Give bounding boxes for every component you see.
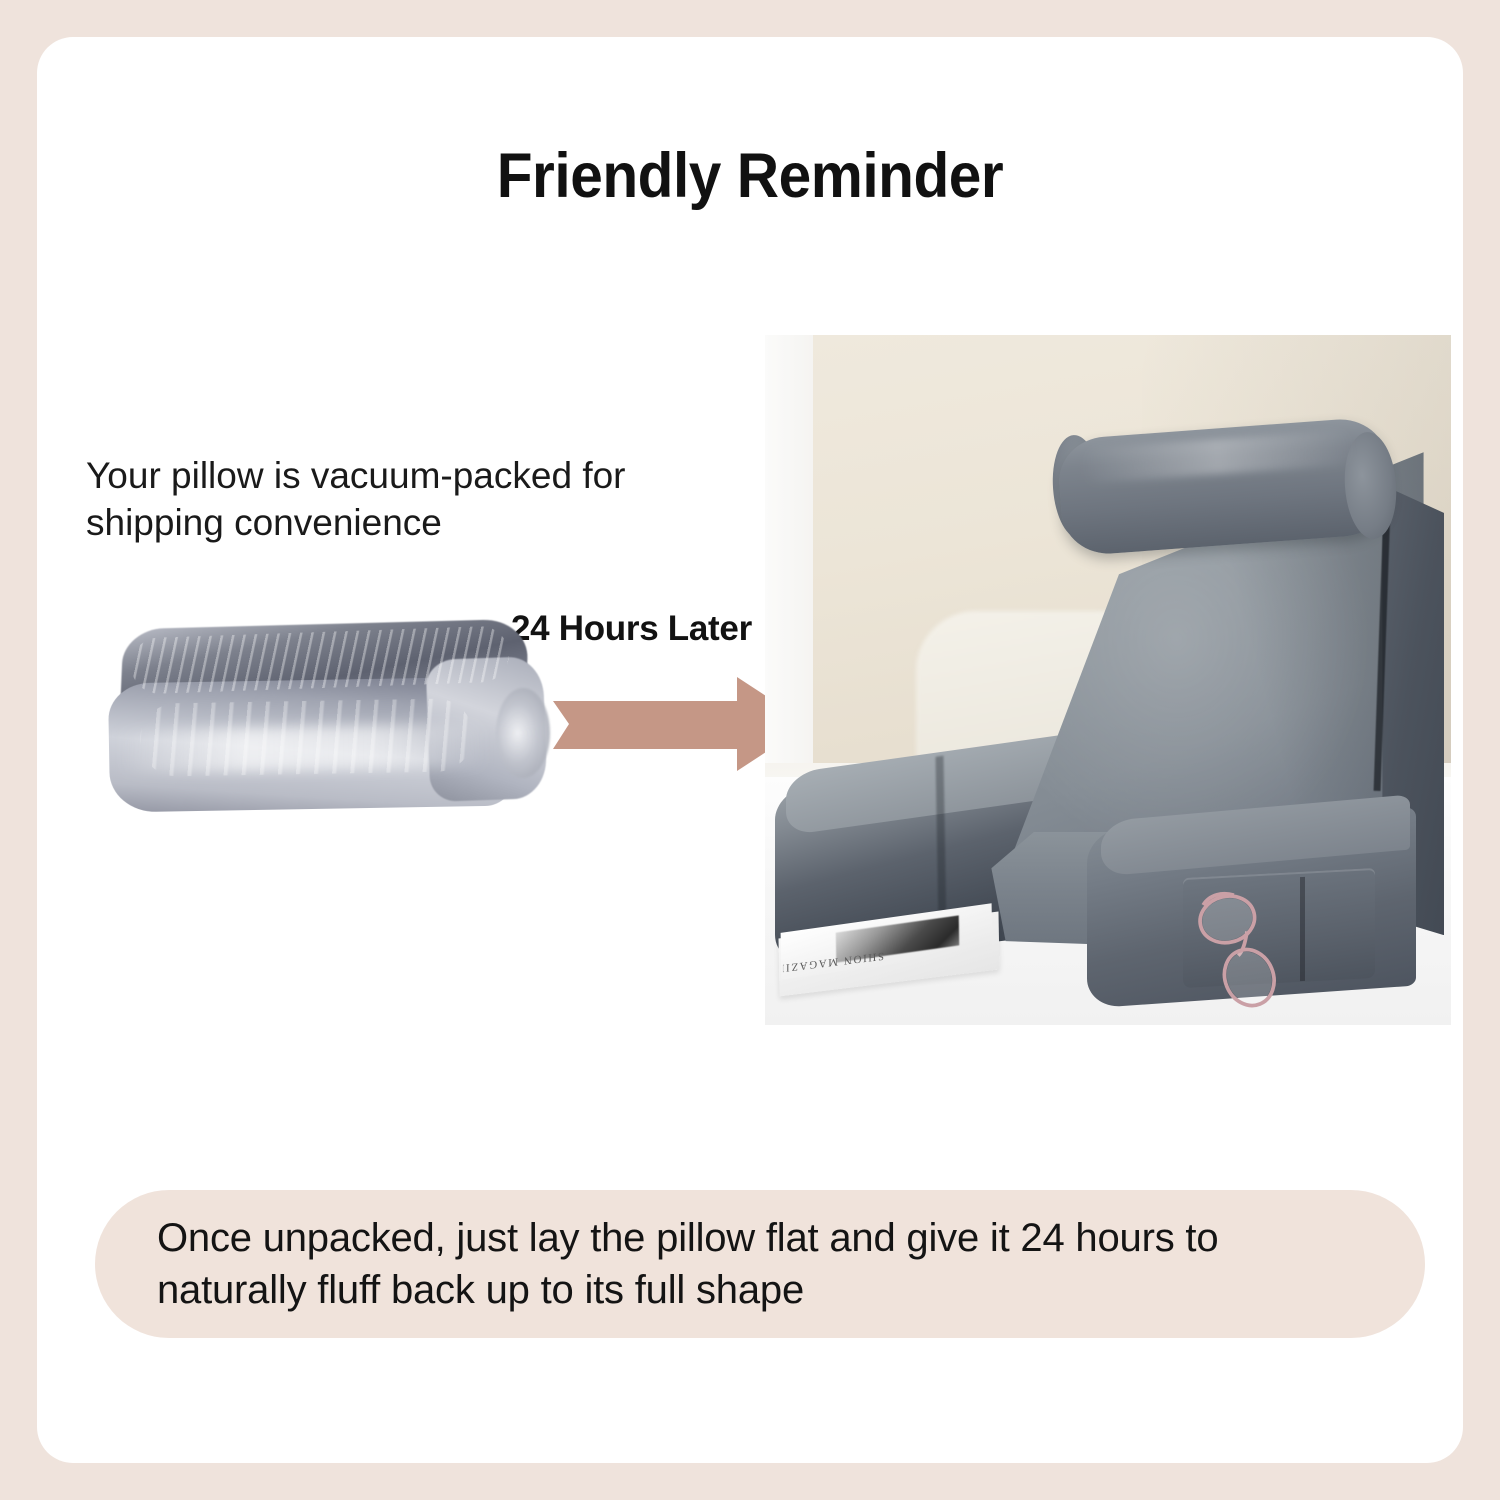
footer-caption-pill: Once unpacked, just lay the pillow flat … <box>95 1190 1425 1338</box>
before-caption: Your pillow is vacuum-packed for shippin… <box>86 452 686 547</box>
armrest-pocket-divider <box>1300 876 1305 980</box>
transition-label: 24 Hours Later <box>511 609 752 649</box>
wall-left-panel <box>765 335 820 832</box>
footer-caption-text: Once unpacked, just lay the pillow flat … <box>95 1212 1425 1316</box>
plastic-wrap-twist <box>496 688 550 778</box>
pillow-highlight <box>117 724 487 773</box>
packed-pillow-body <box>95 615 545 830</box>
eyeglasses-icon <box>1190 880 1300 1018</box>
magazine: FASHION MAGAZINE <box>779 915 999 991</box>
packed-pillow-image <box>95 615 545 830</box>
infographic-root: Friendly Reminder Your pillow is vacuum-… <box>0 0 1500 1500</box>
content-card: Friendly Reminder Your pillow is vacuum-… <box>37 37 1463 1463</box>
product-photo: FASHION MAGAZINE <box>765 335 1451 1025</box>
page-title: Friendly Reminder <box>87 140 1413 212</box>
